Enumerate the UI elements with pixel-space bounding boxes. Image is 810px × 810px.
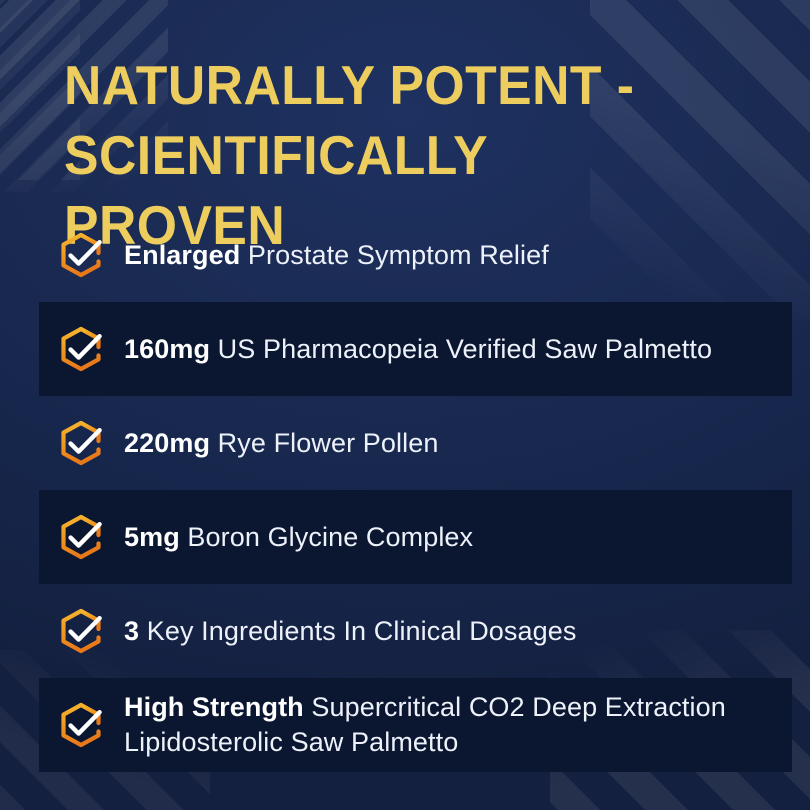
feature-list-item-text: High Strength Supercritical CO2 Deep Ext…: [124, 690, 784, 760]
feature-list-item-4: 5mg Boron Glycine Complex: [0, 490, 810, 584]
hexagon-check-icon: [58, 513, 104, 561]
feature-list-item-2: 160mg US Pharmacopeia Verified Saw Palme…: [0, 302, 810, 396]
feature-list-item-text: 3 Key Ingredients In Clinical Dosages: [124, 614, 576, 649]
hexagon-check-icon: [58, 325, 104, 373]
feature-list-item-text: 5mg Boron Glycine Complex: [124, 520, 473, 555]
hexagon-check-icon: [58, 701, 104, 749]
feature-list-item-1: Enlarged Prostate Symptom Relief: [0, 208, 810, 302]
hexagon-check-icon: [58, 607, 104, 655]
feature-list-item-text: Enlarged Prostate Symptom Relief: [124, 238, 549, 273]
hexagon-check-icon: [58, 419, 104, 467]
hexagon-check-icon: [58, 231, 104, 279]
promo-banner: NATURALLY POTENT - SCIENTIFICALLY PROVEN: [0, 0, 810, 810]
feature-list-item-6: High Strength Supercritical CO2 Deep Ext…: [0, 678, 810, 772]
feature-list-item-text: 160mg US Pharmacopeia Verified Saw Palme…: [124, 332, 712, 367]
feature-list-item-3: 220mg Rye Flower Pollen: [0, 396, 810, 490]
feature-list-item-5: 3 Key Ingredients In Clinical Dosages: [0, 584, 810, 678]
feature-list: Enlarged Prostate Symptom Relief 160: [0, 208, 810, 772]
feature-list-item-text: 220mg Rye Flower Pollen: [124, 426, 438, 461]
